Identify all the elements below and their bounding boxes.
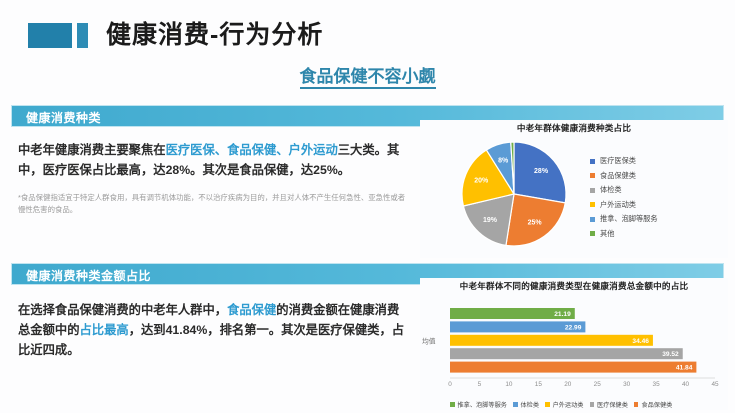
pie-legend-item-0[interactable]: 医疗医保类 (590, 156, 658, 166)
title-marker-large-icon (28, 23, 72, 48)
bar-legend-swatch-4 (634, 402, 639, 407)
pie-legend-swatch-2 (590, 188, 595, 193)
bar-legend-item-2[interactable]: 户外运动类 (545, 400, 583, 409)
pie-legend-swatch-5 (590, 231, 595, 236)
bar-legend-label-2: 户外运动类 (553, 400, 584, 409)
bar-chart-legend: 推拿、泡脚等服务体检类户外运动类医疗保健类食品保健类 (450, 400, 672, 409)
page-subtitle: 食品保健不容小觑 (300, 67, 436, 89)
paragraph-fragment-1: 医疗医保、食品保健、户外运动 (166, 143, 338, 157)
bar-legend-item-1[interactable]: 体检类 (513, 400, 539, 409)
paragraph-fragment-1: 食品保健 (227, 303, 276, 317)
pie-legend-label-1: 食品保健类 (600, 171, 636, 181)
bar-x-tick-1: 5 (478, 381, 482, 388)
bar-x-tick-3: 15 (535, 381, 543, 388)
section-1-footnote: *食品保健指适宜于特定人群食用，具有调节机体功能，不以治疗疾病为目的，并且对人体… (18, 192, 408, 216)
bar-legend-label-1: 体检类 (521, 400, 540, 409)
pie-chart-panel: 中老年群体健康消费种类占比 28%25%19%20%8%1% 医疗医保类食品保健… (420, 120, 728, 258)
pie-legend-item-4[interactable]: 推拿、泡脚等服务 (590, 214, 658, 224)
section-header-2-label: 健康消费种类金额占比 (26, 267, 151, 284)
pie-legend-label-4: 推拿、泡脚等服务 (600, 214, 658, 224)
bar-legend-swatch-1 (513, 402, 518, 407)
slide-canvas: 健康消费-行为分析 食品保健不容小觑 健康消费种类 中老年健康消费主要聚焦在医疗… (0, 0, 735, 413)
bar-value-label-1: 22.99 (565, 324, 582, 331)
page-title: 健康消费-行为分析 (106, 23, 323, 48)
bar-chart-area: 21.1922.9934.4639.5241.84 05101520253035… (420, 292, 728, 410)
bar-legend-item-3[interactable]: 医疗保健类 (590, 400, 628, 409)
bar-2[interactable] (450, 335, 653, 346)
pie-slice-label-3: 20% (474, 178, 489, 185)
page-subtitle-wrap: 食品保健不容小觑 (0, 62, 735, 87)
bar-x-tick-6: 30 (623, 381, 631, 388)
pie-legend-item-1[interactable]: 食品保健类 (590, 171, 658, 181)
bar-legend-swatch-2 (545, 402, 550, 407)
pie-legend-label-2: 体检类 (600, 185, 622, 195)
bar-legend-label-4: 食品保健类 (641, 400, 672, 409)
pie-legend-swatch-1 (590, 173, 595, 178)
pie-chart-area: 28%25%19%20%8%1% 医疗医保类食品保健类体检类户外运动类推拿、泡脚… (420, 134, 728, 252)
pie-legend-item-3[interactable]: 户外运动类 (590, 200, 658, 210)
bar-y-axis-label: 均值 (422, 337, 436, 346)
bar-x-tick-8: 40 (682, 381, 690, 388)
pie-slice-label-0: 28% (534, 168, 549, 175)
pie-legend-item-5[interactable]: 其他 (590, 229, 658, 239)
pie-legend-label-0: 医疗医保类 (600, 156, 636, 166)
pie-legend-item-2[interactable]: 体检类 (590, 185, 658, 195)
paragraph-fragment-3: 占比最高 (80, 323, 129, 337)
paragraph-fragment-0: 中老年健康消费主要聚焦在 (18, 143, 166, 157)
bar-legend-swatch-0 (450, 402, 455, 407)
pie-legend-swatch-3 (590, 202, 595, 207)
section-header-1-label: 健康消费种类 (26, 109, 101, 126)
bar-legend-item-4[interactable]: 食品保健类 (634, 400, 672, 409)
bar-4[interactable] (450, 362, 696, 373)
pie-chart-legend: 医疗医保类食品保健类体检类户外运动类推拿、泡脚等服务其他 (590, 156, 658, 244)
pie-legend-swatch-0 (590, 159, 595, 164)
bar-value-label-0: 21.19 (554, 311, 571, 318)
bar-legend-swatch-3 (590, 402, 595, 407)
bar-chart-title: 中老年群体不同的健康消费类型在健康消费总金额中的占比 (420, 278, 728, 292)
bar-x-tick-9: 45 (711, 381, 719, 388)
bar-legend-item-0[interactable]: 推拿、泡脚等服务 (450, 400, 507, 409)
bar-x-tick-7: 35 (653, 381, 661, 388)
bar-3[interactable] (450, 348, 683, 359)
slide-title-row: 健康消费-行为分析 (0, 14, 735, 56)
bar-x-tick-0: 0 (448, 381, 452, 388)
bar-x-tick-4: 20 (564, 381, 572, 388)
section-1-body: 中老年健康消费主要聚焦在医疗医保、食品保健、户外运动三大类。其中，医疗医保占比最… (18, 140, 408, 216)
bar-x-tick-2: 10 (505, 381, 513, 388)
section-2-body: 在选择食品保健消费的中老年人群中，食品保健的消费金额在健康消费总金额中的占比最高… (18, 300, 408, 360)
pie-legend-label-3: 户外运动类 (600, 200, 636, 210)
title-marker-small-icon (77, 23, 88, 48)
bar-value-label-3: 39.52 (662, 351, 679, 358)
paragraph-fragment-0: 在选择食品保健消费的中老年人群中， (18, 303, 227, 317)
bar-legend-label-3: 医疗保健类 (597, 400, 628, 409)
pie-chart-title: 中老年群体健康消费种类占比 (420, 120, 728, 134)
bar-value-label-4: 41.84 (676, 365, 693, 372)
pie-legend-swatch-4 (590, 217, 595, 222)
pie-legend-label-5: 其他 (600, 229, 614, 239)
section-2-paragraph: 在选择食品保健消费的中老年人群中，食品保健的消费金额在健康消费总金额中的占比最高… (18, 300, 408, 360)
pie-slice-label-2: 19% (483, 217, 498, 224)
pie-slice-label-1: 25% (528, 220, 543, 227)
bar-value-label-2: 34.46 (632, 338, 649, 345)
section-1-paragraph: 中老年健康消费主要聚焦在医疗医保、食品保健、户外运动三大类。其中，医疗医保占比最… (18, 140, 408, 180)
pie-chart-svg: 28%25%19%20%8%1% (452, 138, 582, 250)
bar-x-tick-5: 25 (594, 381, 602, 388)
bar-legend-label-0: 推拿、泡脚等服务 (458, 400, 508, 409)
bar-chart-panel: 中老年群体不同的健康消费类型在健康消费总金额中的占比 21.1922.9934.… (420, 278, 728, 410)
pie-slice-label-4: 8% (498, 157, 509, 164)
bar-chart-svg: 21.1922.9934.4639.5241.84 05101520253035… (420, 294, 728, 402)
